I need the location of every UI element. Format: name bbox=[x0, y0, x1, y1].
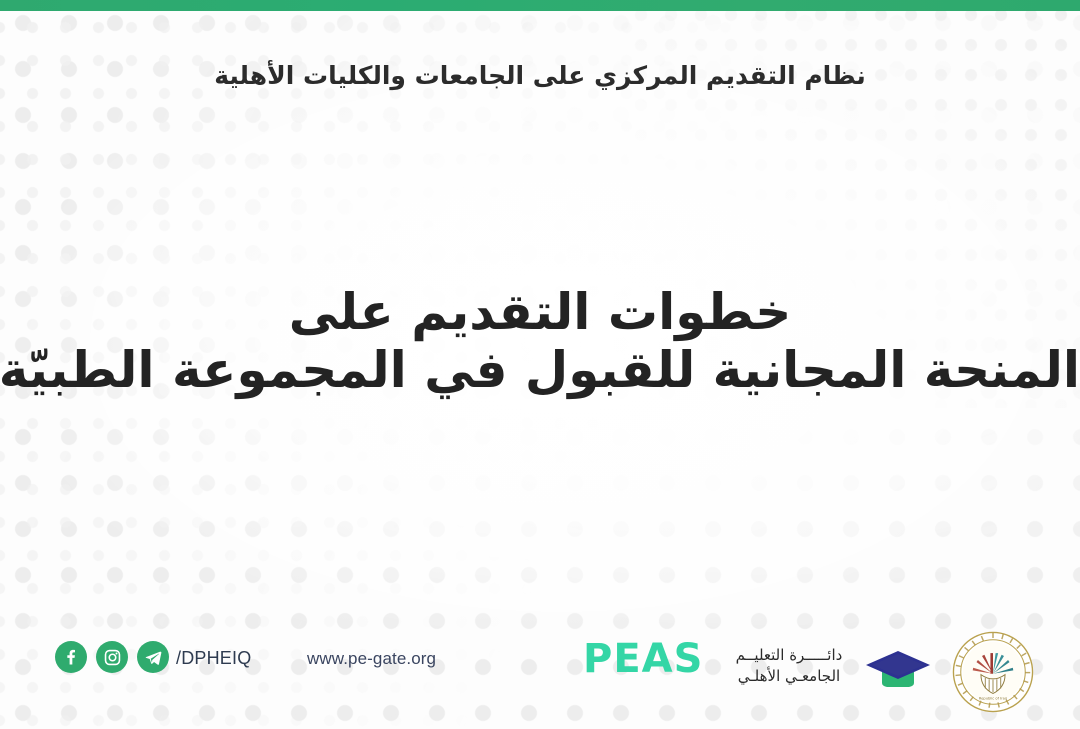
department-name: دائـــــرة التعليــم الجامعـي الأهلـي bbox=[725, 645, 853, 688]
social-links bbox=[55, 641, 169, 673]
department-line-1: دائـــــرة التعليــم bbox=[725, 645, 853, 666]
announcement-slide: نظام التقديم المركزي على الجامعات والكلي… bbox=[0, 0, 1080, 729]
department-line-2: الجامعـي الأهلـي bbox=[725, 666, 853, 687]
title-line-1: خطوات التقديم على bbox=[0, 283, 1080, 341]
facebook-icon bbox=[61, 647, 81, 667]
graduation-cap-icon bbox=[862, 644, 934, 694]
facebook-link[interactable] bbox=[55, 641, 87, 673]
instagram-link[interactable] bbox=[96, 641, 128, 673]
social-handle: /DPHEIQ bbox=[176, 648, 251, 669]
website-url[interactable]: www.pe-gate.org bbox=[307, 649, 436, 669]
top-accent-bar bbox=[0, 0, 1080, 11]
telegram-icon bbox=[144, 648, 163, 667]
footer: /DPHEIQ www.pe-gate.org PEAS دائـــــرة … bbox=[0, 629, 1080, 695]
page-title: خطوات التقديم على المنحة المجانية للقبول… bbox=[0, 283, 1080, 399]
telegram-link[interactable] bbox=[137, 641, 169, 673]
peas-logo: PEAS bbox=[583, 639, 703, 679]
svg-text:Republic of Iraq: Republic of Iraq bbox=[979, 697, 1007, 701]
header: نظام التقديم المركزي على الجامعات والكلي… bbox=[0, 61, 1080, 90]
title-line-2: المنحة المجانية للقبول في المجموعة الطبي… bbox=[0, 341, 1080, 399]
ministry-seal-icon: Republic of Iraq bbox=[950, 629, 1036, 715]
instagram-icon bbox=[103, 648, 122, 667]
header-title: نظام التقديم المركزي على الجامعات والكلي… bbox=[214, 61, 866, 90]
